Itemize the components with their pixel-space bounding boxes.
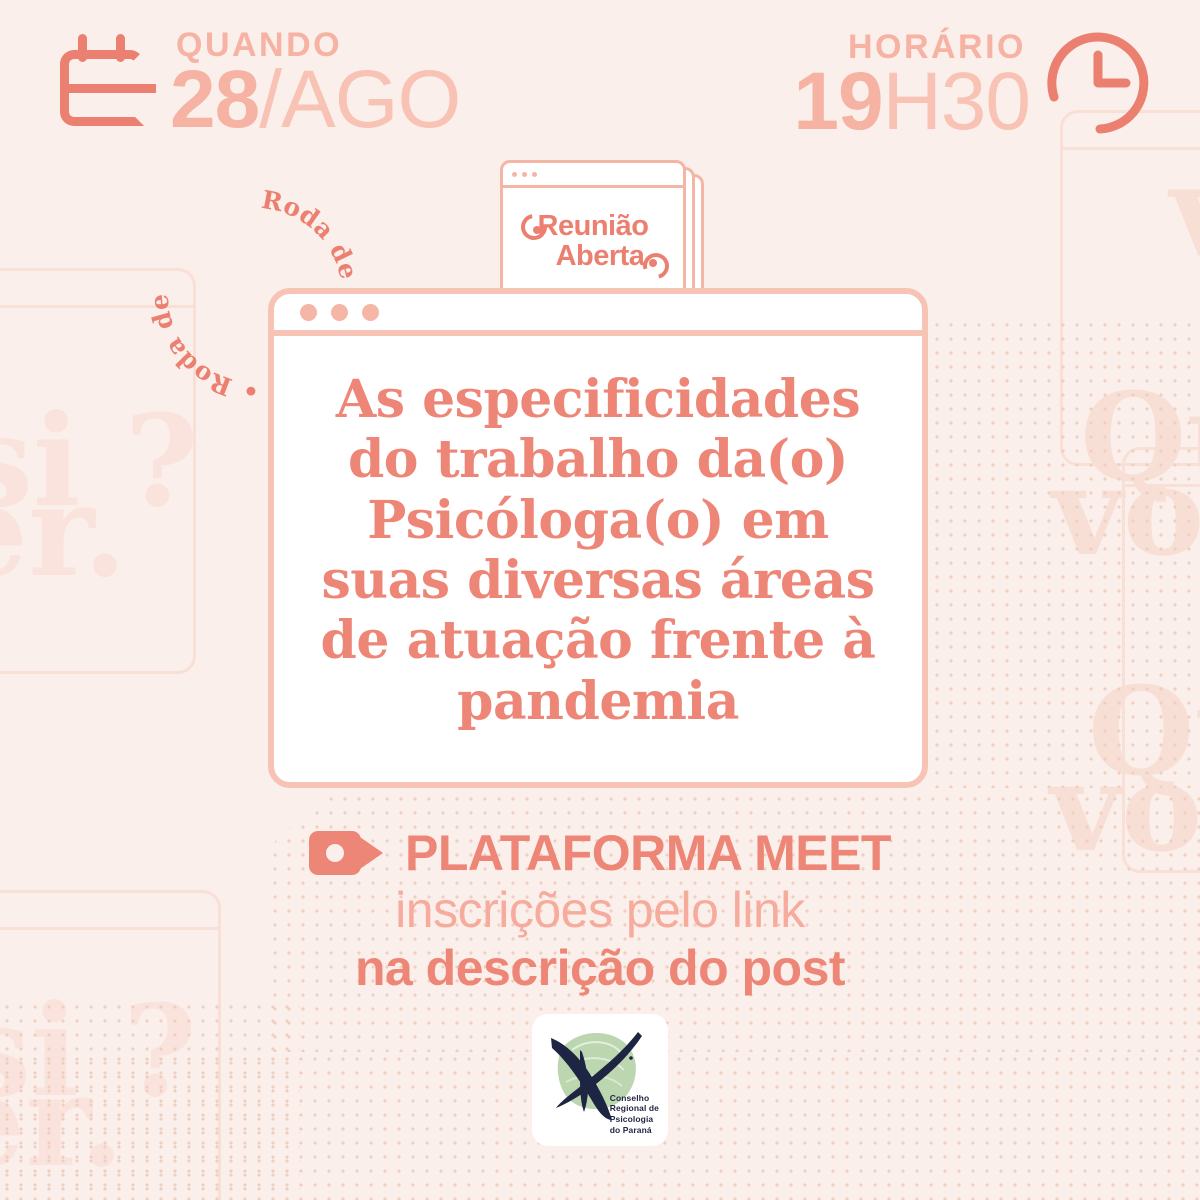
clock-icon xyxy=(1040,27,1152,139)
badge-dot-top-icon xyxy=(533,226,541,234)
when-date: 28/AGO xyxy=(170,62,460,137)
platform-info-block: PLATAFORMA MEET inscrições pelo link na … xyxy=(0,828,1200,996)
ghost-window-right-mid xyxy=(1122,447,1200,873)
window-dot-minimize[interactable] xyxy=(331,304,348,321)
ghost-text-right-voce: você xyxy=(1052,452,1200,572)
video-camera-icon xyxy=(309,831,383,875)
ghost-text-right-que-2: Que xyxy=(1088,672,1200,792)
signup-location-line: na descrição do post xyxy=(355,940,845,996)
when-month: AGO xyxy=(281,54,460,145)
time-text-group: HORÁRIO 19H30 xyxy=(793,30,1030,139)
ghost-text-left-si: si ? xyxy=(0,400,199,523)
badge-line-1: Reunião xyxy=(538,212,649,242)
when-day: 28 xyxy=(170,54,259,145)
ghost-window-bar xyxy=(1125,450,1200,487)
ghost-text-left-er-2: er. xyxy=(0,1060,124,1183)
badge-dot-3 xyxy=(532,172,537,177)
poster-canvas: si ? er. si ? er. v Que você Que você QU… xyxy=(0,0,1200,1200)
crp-caption-line-1: Conselho xyxy=(610,1093,659,1104)
when-info-block: QUANDO 28/AGO xyxy=(52,22,460,137)
camera-lens xyxy=(357,835,383,871)
crp-logo-caption: Conselho Regional de Psicologia do Paran… xyxy=(610,1093,659,1137)
calendar-header-line xyxy=(60,84,156,93)
ghost-text-right-v: v xyxy=(1170,150,1200,273)
time-value: 19H30 xyxy=(793,64,1030,139)
ghost-text-left-er: er. xyxy=(0,470,127,593)
when-text-group: QUANDO 28/AGO xyxy=(170,28,460,137)
crp-caption-line-3: Psicologia xyxy=(610,1114,659,1125)
when-separator: / xyxy=(259,54,281,145)
ghost-text-left-si-2: si ? xyxy=(0,990,197,1113)
badge-dot-2 xyxy=(522,172,527,177)
crp-caption-line-4: do Paraná xyxy=(610,1125,659,1136)
platform-name: PLATAFORMA MEET xyxy=(405,828,891,878)
page-title: As especificidades do trabalho da(o) Psi… xyxy=(310,370,886,732)
main-content-window: As especificidades do trabalho da(o) Psi… xyxy=(268,288,928,788)
badge-line-2: Aberta xyxy=(556,242,645,272)
time-info-block: HORÁRIO 19H30 xyxy=(793,26,1152,139)
dot-texture-right xyxy=(930,318,1200,788)
badge-window-bar xyxy=(503,163,683,188)
main-window-titlebar xyxy=(274,294,922,336)
ghost-text-right-que: Que xyxy=(1080,378,1200,498)
platform-headline-row: PLATAFORMA MEET xyxy=(309,828,891,878)
time-hour: 19 xyxy=(793,56,882,147)
time-unit: H xyxy=(883,56,941,147)
dot-texture-bottom-left xyxy=(0,1000,300,1200)
crp-parana-logo: Conselho Regional de Psicologia do Paran… xyxy=(532,1014,668,1146)
main-window-body: As especificidades do trabalho da(o) Psi… xyxy=(274,336,922,782)
signup-line: inscrições pelo link xyxy=(395,882,805,938)
camera-eye xyxy=(326,844,344,862)
ghost-window-right-top xyxy=(1060,110,1200,466)
window-dot-close[interactable] xyxy=(300,304,317,321)
badge-sheet-front: Reunião Aberta xyxy=(500,160,686,298)
badge-dot-bottom-icon xyxy=(649,259,657,267)
time-minutes: 30 xyxy=(941,56,1030,147)
window-dot-maximize[interactable] xyxy=(362,304,379,321)
calendar-icon xyxy=(52,28,152,132)
badge-dot-1 xyxy=(512,172,517,177)
badge-content: Reunião Aberta xyxy=(503,188,683,295)
crp-caption-line-2: Regional de xyxy=(610,1103,659,1114)
